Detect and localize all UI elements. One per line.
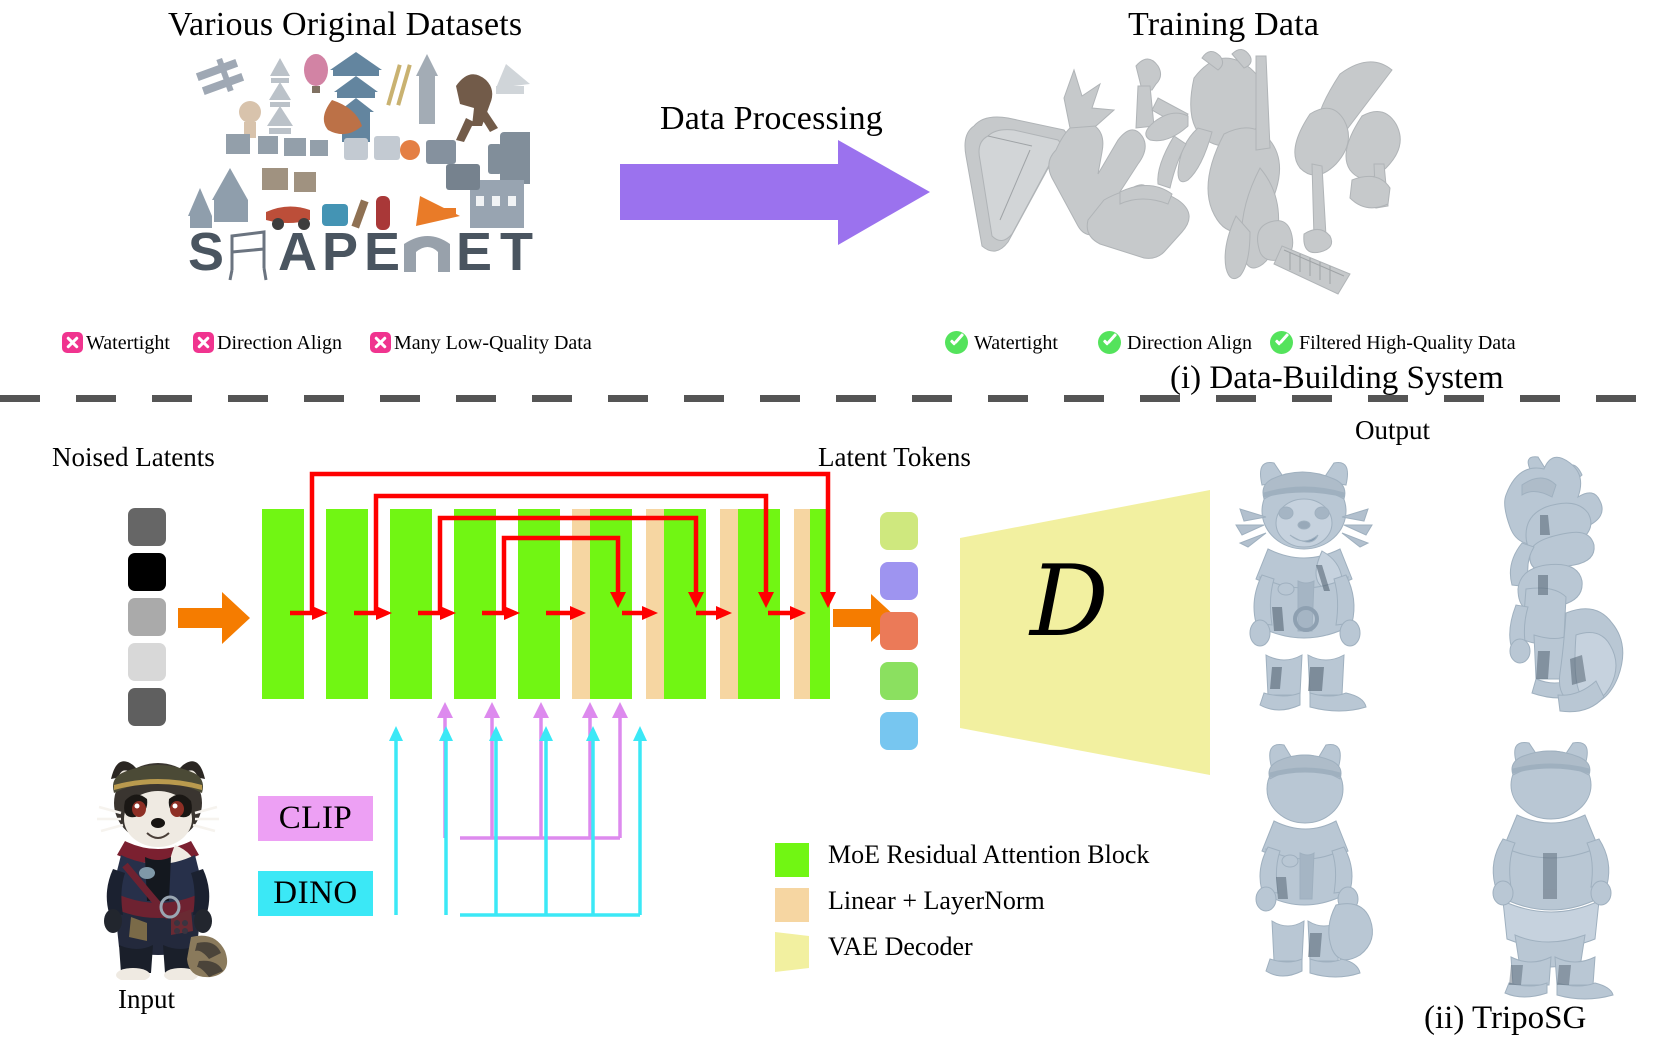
svg-text:P: P bbox=[322, 222, 358, 282]
clip-label: CLIP bbox=[279, 800, 353, 837]
check-badge-icon bbox=[945, 331, 968, 354]
check-badge-icon bbox=[1098, 331, 1121, 354]
shapenet-object-cloud-image bbox=[170, 40, 530, 235]
cross-badge-icon bbox=[62, 332, 83, 353]
noised-latent-square-3 bbox=[128, 643, 166, 681]
output-mesh-back bbox=[1210, 735, 1400, 1000]
legend-label-moe: MoE Residual Attention Block bbox=[828, 840, 1149, 870]
left-tag-0: Watertight bbox=[62, 332, 170, 355]
right-tag-1: Direction Align bbox=[1098, 331, 1252, 355]
svg-text:S: S bbox=[188, 222, 224, 282]
cross-badge-icon bbox=[370, 332, 391, 353]
left-tag-1: Direction Align bbox=[193, 332, 342, 355]
training-data-mesh-image bbox=[960, 40, 1450, 300]
data-processing-arrow bbox=[620, 140, 930, 245]
left-tag-2: Many Low-Quality Data bbox=[370, 332, 592, 355]
dino-label: DINO bbox=[273, 875, 357, 912]
legend-swatch-vae bbox=[775, 932, 809, 972]
noised-latent-square-1 bbox=[128, 553, 166, 591]
clip-encoder-box[interactable]: CLIP bbox=[258, 796, 373, 841]
dino-encoder-box[interactable]: DINO bbox=[258, 871, 373, 916]
output-mesh-front bbox=[1210, 455, 1400, 720]
svg-text:T: T bbox=[500, 222, 533, 282]
check-badge-icon bbox=[1270, 331, 1293, 354]
legend-swatch-moe bbox=[775, 843, 809, 877]
latent-token-3 bbox=[880, 662, 918, 700]
right-tag-2: Filtered High-Quality Data bbox=[1270, 331, 1516, 355]
cross-badge-icon bbox=[193, 332, 214, 353]
legend-label-linear: Linear + LayerNorm bbox=[828, 886, 1045, 916]
output-mesh-side bbox=[1450, 455, 1640, 720]
input-raccoon-image bbox=[75, 745, 240, 980]
output-mesh-rear bbox=[1455, 735, 1645, 1000]
right-tag-0: Watertight bbox=[945, 331, 1058, 355]
decoder-symbol: D bbox=[1030, 545, 1109, 659]
shapenet-logo: S A P E E T bbox=[188, 222, 568, 284]
section-divider bbox=[0, 395, 1661, 402]
legend-swatch-linear bbox=[775, 888, 809, 922]
latent-token-1 bbox=[880, 562, 918, 600]
input-flow-arrow bbox=[178, 592, 250, 644]
section-ii-caption: (ii) TripoSG bbox=[1424, 1000, 1586, 1037]
latent-token-2 bbox=[880, 612, 918, 650]
input-label: Input bbox=[118, 984, 175, 1015]
noised-latents-label: Noised Latents bbox=[52, 442, 215, 473]
noised-latent-square-0 bbox=[128, 508, 166, 546]
latent-tokens-label: Latent Tokens bbox=[818, 442, 971, 473]
noised-latent-square-2 bbox=[128, 598, 166, 636]
output-label: Output bbox=[1355, 415, 1430, 446]
legend-label-vae: VAE Decoder bbox=[828, 932, 973, 962]
data-processing-label: Data Processing bbox=[660, 100, 883, 138]
noised-latent-square-4 bbox=[128, 688, 166, 726]
latent-token-0 bbox=[880, 512, 918, 550]
training-data-title: Training Data bbox=[1128, 6, 1319, 44]
latent-token-4 bbox=[880, 712, 918, 750]
svg-text:E: E bbox=[456, 222, 492, 282]
svg-text:E: E bbox=[364, 222, 400, 282]
section-i-caption: (i) Data-Building System bbox=[1170, 360, 1504, 397]
svg-text:A: A bbox=[278, 222, 317, 282]
various-original-datasets-title: Various Original Datasets bbox=[168, 6, 522, 44]
residual-skip-connections bbox=[250, 460, 850, 630]
